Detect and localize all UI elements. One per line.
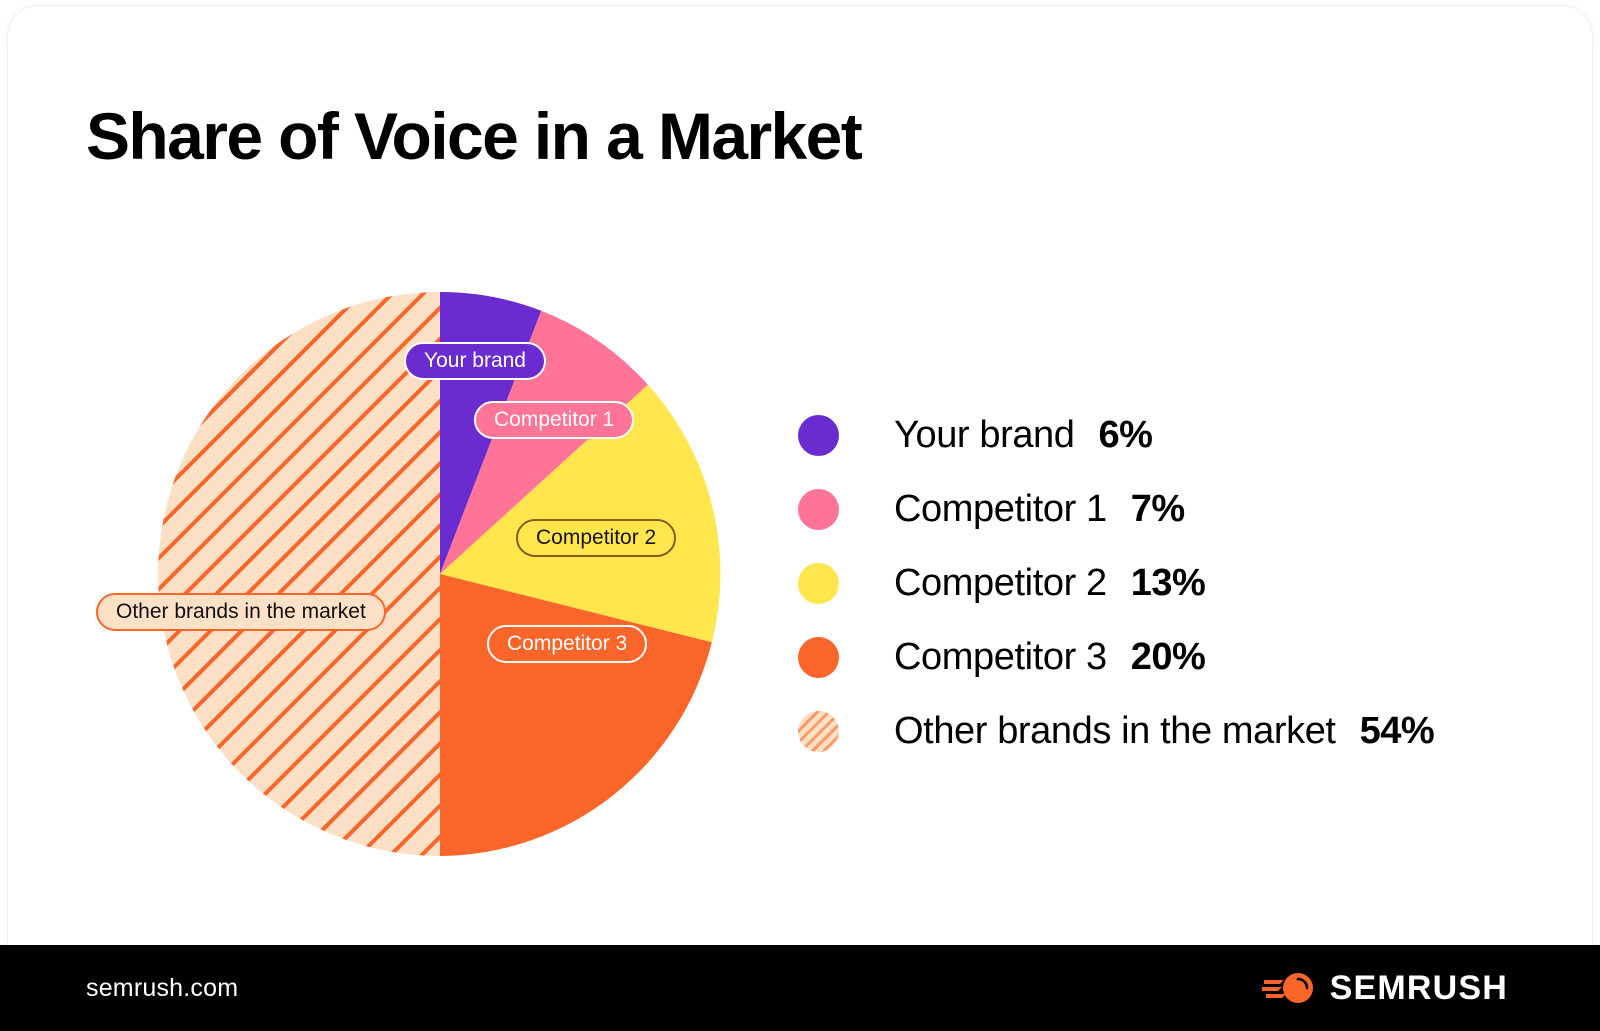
legend-swatch-your-brand bbox=[798, 415, 839, 456]
callout-your-brand[interactable]: Your brand bbox=[404, 342, 546, 380]
brand-logo[interactable]: SEMRUSH bbox=[1262, 969, 1508, 1008]
callout-label: Competitor 3 bbox=[507, 632, 627, 656]
legend-swatch-competitor-1 bbox=[798, 489, 839, 530]
callout-competitor-2[interactable]: Competitor 2 bbox=[516, 519, 676, 557]
legend-item-competitor-3[interactable]: Competitor 3 20% bbox=[798, 620, 1538, 694]
brand-name: SEMRUSH bbox=[1330, 969, 1508, 1008]
legend-item-competitor-1[interactable]: Competitor 1 7% bbox=[798, 472, 1538, 546]
callout-competitor-3[interactable]: Competitor 3 bbox=[487, 625, 647, 663]
slice-other-brands[interactable] bbox=[158, 292, 440, 856]
callout-other-brands[interactable]: Other brands in the market bbox=[96, 593, 386, 631]
legend-label: Your brand bbox=[894, 414, 1075, 457]
callout-label: Competitor 1 bbox=[494, 408, 614, 432]
legend-label: Competitor 2 bbox=[894, 562, 1107, 605]
legend-value: 54% bbox=[1360, 710, 1435, 753]
infographic-page: Share of Voice in a Market bbox=[0, 0, 1600, 1031]
legend-swatch-other-brands bbox=[798, 711, 839, 752]
legend-label: Competitor 1 bbox=[894, 488, 1107, 531]
legend-label: Competitor 3 bbox=[894, 636, 1107, 679]
legend-value: 20% bbox=[1131, 636, 1206, 679]
chart-legend: Your brand 6% Competitor 1 7% Competitor… bbox=[798, 398, 1538, 768]
callout-competitor-1[interactable]: Competitor 1 bbox=[474, 401, 634, 439]
page-title: Share of Voice in a Market bbox=[86, 102, 861, 171]
legend-value: 13% bbox=[1131, 562, 1206, 605]
legend-item-competitor-2[interactable]: Competitor 2 13% bbox=[798, 546, 1538, 620]
legend-item-other-brands[interactable]: Other brands in the market 54% bbox=[798, 694, 1538, 768]
legend-value: 7% bbox=[1131, 488, 1185, 531]
legend-item-your-brand[interactable]: Your brand 6% bbox=[798, 398, 1538, 472]
callout-label: Competitor 2 bbox=[536, 526, 656, 550]
chart-card: Share of Voice in a Market bbox=[8, 6, 1592, 1024]
footer-bar: semrush.com SEMRUSH bbox=[0, 945, 1600, 1031]
semrush-comet-icon bbox=[1262, 971, 1316, 1005]
legend-swatch-competitor-3 bbox=[798, 637, 839, 678]
legend-swatch-competitor-2 bbox=[798, 563, 839, 604]
legend-label: Other brands in the market bbox=[894, 710, 1336, 753]
legend-value: 6% bbox=[1099, 414, 1153, 457]
callout-label: Your brand bbox=[424, 349, 526, 373]
footer-url[interactable]: semrush.com bbox=[86, 974, 238, 1003]
callout-label: Other brands in the market bbox=[116, 600, 366, 624]
